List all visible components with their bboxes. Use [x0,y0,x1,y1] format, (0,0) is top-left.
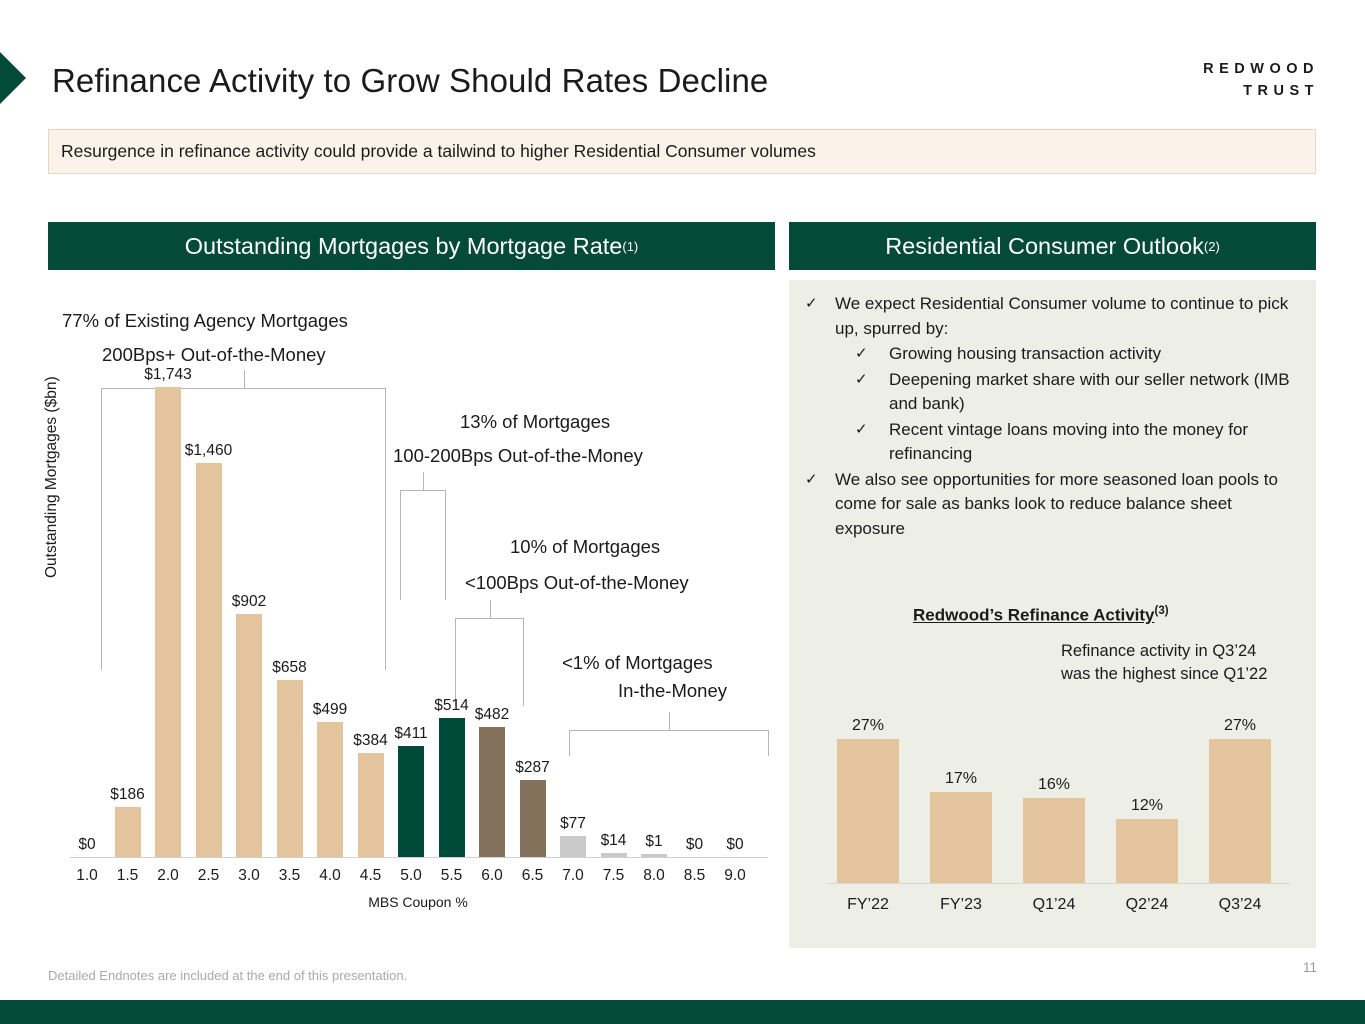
mini-x-tick-Q2’24: Q2’24 [1116,896,1178,914]
mini-x-tick-Q3’24: Q3’24 [1209,896,1271,914]
right-panel-banner-footnote: (2) [1204,239,1220,254]
mini-bar-label-FY’23: 17% [930,770,992,788]
mini-bar-Q2’24 [1116,819,1178,883]
refinance-activity-footnote: (3) [1155,605,1169,617]
brand-logo: REDWOOD TRUST [1203,58,1319,102]
refinance-activity-note-line1: Refinance activity in Q3’24 [1061,640,1267,663]
refinance-activity-chart: 27%FY’2217%FY’2316%Q1’2412%Q2’2427%Q3’24 [819,678,1299,928]
bullet-text: Deepening market share with our seller n… [889,368,1305,417]
bar-3.0 [236,614,262,857]
check-icon: ✓ [855,418,889,467]
slide: Refinance Activity to Grow Should Rates … [0,0,1365,1024]
refinance-activity-title: Redwood’s Refinance Activity(3) [913,605,1169,626]
x-axis-title: MBS Coupon % [68,894,768,910]
right-panel-banner: Residential Consumer Outlook(2) [789,222,1316,270]
bullet-item: ✓We also see opportunities for more seas… [805,468,1305,542]
brand-line-1: REDWOOD [1203,58,1319,80]
left-chart-plot-area: MBS Coupon % $01.0$1861.5$1,7432.0$1,460… [68,278,768,918]
x-tick-6.5: 6.5 [513,867,553,885]
bar-label-3.5: $658 [262,659,318,677]
bar-label-2.0: $1,743 [140,366,196,384]
mini-bar-label-FY’22: 27% [837,717,899,735]
page-title: Refinance Activity to Grow Should Rates … [52,62,768,100]
x-tick-7.0: 7.0 [553,867,593,885]
outstanding-mortgages-chart: Outstanding Mortgages ($bn) 77% of Exist… [48,278,775,978]
refinance-activity-title-text: Redwood’s Refinance Activity [913,606,1155,625]
residential-consumer-outlook-panel: ✓We expect Residential Consumer volume t… [789,280,1316,948]
x-tick-8.5: 8.5 [675,867,715,885]
bullet-item: ✓Deepening market share with our seller … [805,368,1305,417]
bullet-item: ✓Growing housing transaction activity [805,342,1305,367]
bar-label-7.0: $77 [545,815,601,833]
bullet-text: Recent vintage loans moving into the mon… [889,418,1305,467]
brand-line-2: TRUST [1203,80,1319,102]
check-icon: ✓ [855,368,889,417]
bar-4.0 [317,722,343,857]
bar-7.0 [560,836,586,857]
x-tick-1.0: 1.0 [67,867,107,885]
bar-label-6.5: $287 [505,759,561,777]
footer-bar [0,1000,1365,1024]
mini-bar-Q1’24 [1023,798,1085,883]
mini-bar-Q3’24 [1209,739,1271,883]
page-number: 11 [1303,960,1317,975]
bullet-item: ✓We expect Residential Consumer volume t… [805,292,1305,341]
left-panel-banner-footnote: (1) [622,239,638,254]
check-icon: ✓ [805,468,835,542]
bullet-text: We expect Residential Consumer volume to… [835,292,1305,341]
bar-label-1.0: $0 [59,836,115,854]
mini-x-tick-FY’22: FY’22 [837,896,899,914]
bullet-text: Growing housing transaction activity [889,342,1305,367]
bar-label-9.0: $0 [707,836,763,854]
x-tick-2.0: 2.0 [148,867,188,885]
bar-label-3.0: $902 [221,593,277,611]
bar-label-5.0: $411 [383,725,439,743]
bar-2.5 [196,463,222,857]
bar-label-1.5: $186 [100,786,156,804]
bar-6.5 [520,780,546,857]
bar-3.5 [277,680,303,857]
mini-bar-label-Q3’24: 27% [1209,717,1271,735]
x-tick-5.0: 5.0 [391,867,431,885]
mini-bar-FY’23 [930,792,992,883]
x-tick-3.5: 3.5 [270,867,310,885]
bar-label-2.5: $1,460 [181,442,237,460]
subtitle-callout: Resurgence in refinance activity could p… [48,129,1316,174]
check-icon: ✓ [855,342,889,367]
triangle-accent-icon [0,52,26,104]
bar-4.5 [358,753,384,857]
x-axis-line [70,857,768,858]
mini-bar-FY’22 [837,739,899,883]
bullet-item: ✓Recent vintage loans moving into the mo… [805,418,1305,467]
mini-bar-label-Q2’24: 12% [1116,797,1178,815]
bullet-list: ✓We expect Residential Consumer volume t… [805,292,1305,542]
mini-bar-label-Q1’24: 16% [1023,776,1085,794]
bar-7.5 [601,853,627,857]
mini-x-axis-line [827,883,1291,884]
mini-x-tick-Q1’24: Q1’24 [1023,896,1085,914]
bar-1.5 [115,807,141,857]
mini-x-tick-FY’23: FY’23 [930,896,992,914]
x-tick-8.0: 8.0 [634,867,674,885]
bar-label-6.0: $482 [464,706,520,724]
bar-6.0 [479,727,505,857]
x-tick-9.0: 9.0 [715,867,755,885]
x-tick-5.5: 5.5 [432,867,472,885]
x-tick-2.5: 2.5 [189,867,229,885]
bullet-text: We also see opportunities for more seaso… [835,468,1305,542]
bar-label-4.0: $499 [302,701,358,719]
subtitle-text: Resurgence in refinance activity could p… [61,141,816,162]
right-panel-banner-title: Residential Consumer Outlook [885,233,1204,260]
left-panel-banner: Outstanding Mortgages by Mortgage Rate(1… [48,222,775,270]
x-tick-4.5: 4.5 [351,867,391,885]
bar-5.0 [398,746,424,857]
x-tick-4.0: 4.0 [310,867,350,885]
x-tick-6.0: 6.0 [472,867,512,885]
x-tick-1.5: 1.5 [108,867,148,885]
x-tick-3.0: 3.0 [229,867,269,885]
bar-2.0 [155,387,181,857]
endnote-text: Detailed Endnotes are included at the en… [48,968,407,983]
y-axis-title: Outstanding Mortgages ($bn) [43,376,61,578]
check-icon: ✓ [805,292,835,341]
left-panel-banner-title: Outstanding Mortgages by Mortgage Rate [185,233,623,260]
bar-5.5 [439,718,465,857]
bar-8.0 [641,854,667,857]
x-tick-7.5: 7.5 [594,867,634,885]
